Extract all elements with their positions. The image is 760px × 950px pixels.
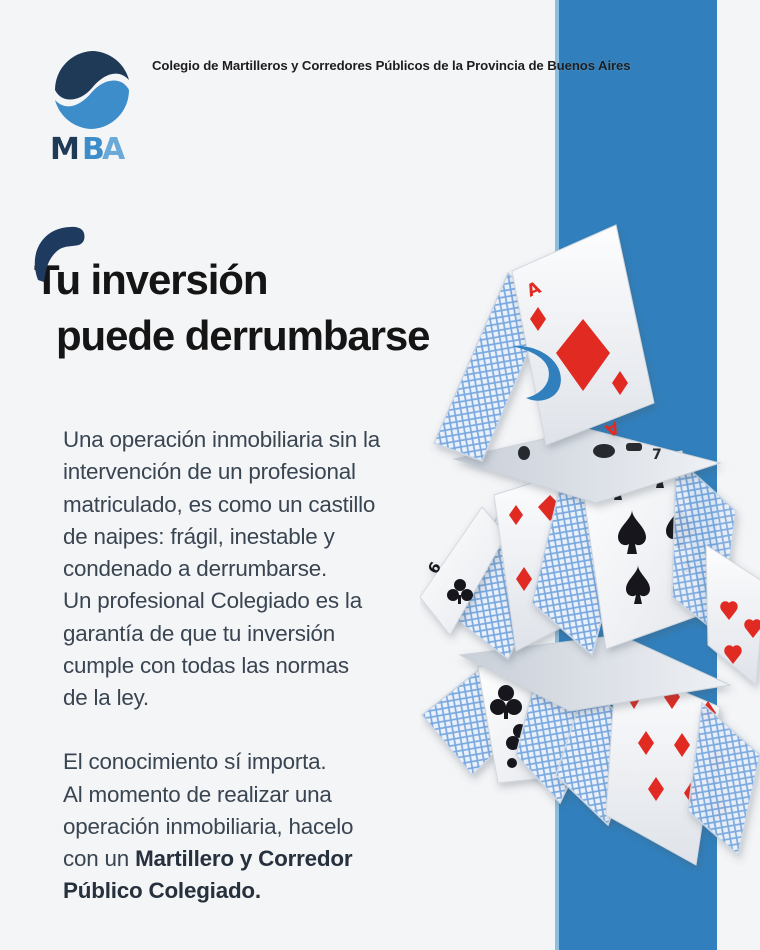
logo: M B A [44,48,140,163]
paragraph-two-line-cta: con un Martillero y Corredor [63,843,483,875]
poster-header: M B A Colegio de Martilleros y Corredore… [0,0,760,180]
logo-wordmark-mba: M B A [44,132,140,164]
cta-prefix: con un [63,846,135,871]
poster-canvas: 7 [0,0,760,950]
paragraph-one-line: condenado a derrumbarse. [63,553,483,585]
headline-line-1: Tu inversión [34,252,564,308]
svg-text:7: 7 [652,447,662,463]
paragraph-two-line: El conocimiento sí importa. [63,746,483,778]
body-copy-block: Una operación inmobiliaria sin la interv… [63,424,483,908]
paragraph-one-line: Un profesional Colegiado es la [63,585,483,617]
organization-name: Colegio de Martilleros y Corredores Públ… [152,58,752,73]
headline-block: Tu inversión puede derrumbarse [34,252,564,364]
paragraph-one-line: cumple con todas las normas [63,650,483,682]
paragraph-two-line: operación inmobiliaria, hacelo [63,811,483,843]
paragraph-one-line: de la ley. [63,682,483,714]
circular-wave-emblem-icon [50,48,134,132]
paragraph-one-line: Una operación inmobiliaria sin la [63,424,483,456]
headline-line-2: puede derrumbarse [56,308,564,364]
paragraph-one-line: de naipes: frágil, inestable y [63,521,483,553]
paragraph-one-line: matriculado, es como un castillo [63,489,483,521]
paragraph-one-line: garantía de que tu inversión [63,618,483,650]
cta-bold-part-1: Martillero y Corredor [135,846,352,871]
paragraph-two-line: Al momento de realizar una [63,779,483,811]
svg-text:M: M [50,132,80,164]
paragraph-one: Una operación inmobiliaria sin la interv… [63,424,483,714]
svg-text:A: A [102,132,126,164]
paragraph-two: El conocimiento sí importa. Al momento d… [63,746,483,907]
cta-bold-part-2: Público Colegiado. [63,875,483,907]
paragraph-one-line: intervención de un profesional [63,456,483,488]
